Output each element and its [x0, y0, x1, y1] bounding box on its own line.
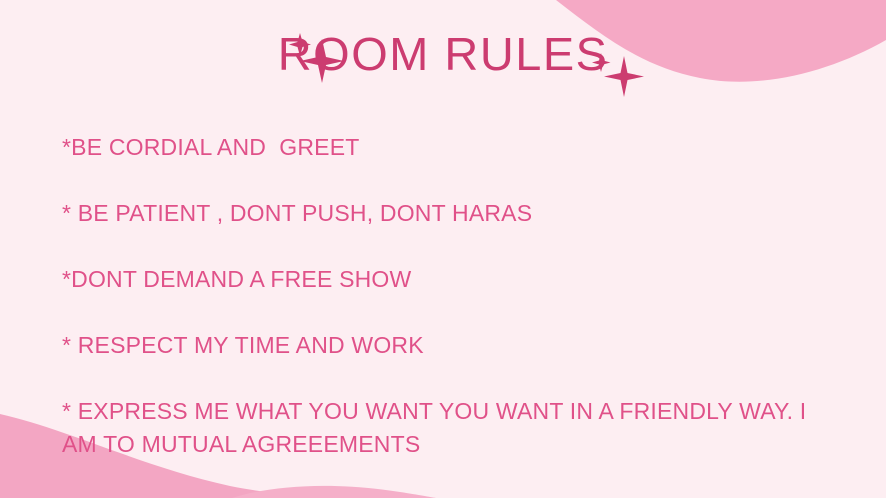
sparkle-icon	[592, 50, 644, 102]
wave-arc-bottom-center	[232, 486, 436, 498]
page-title: ROOM RULES	[0, 14, 886, 94]
list-item: * RESPECT MY TIME AND WORK	[62, 329, 852, 362]
room-rules-slide: ROOM RULES *BE CORDIAL AND GREET * BE PA…	[0, 0, 886, 498]
list-item: *DONT DEMAND A FREE SHOW	[62, 263, 852, 296]
list-item: * EXPRESS ME WHAT YOU WANT YOU WANT IN A…	[62, 395, 837, 461]
page-title-text: ROOM RULES	[278, 31, 609, 77]
list-item: *BE CORDIAL AND GREET	[62, 131, 852, 164]
list-item: * BE PATIENT , DONT PUSH, DONT HARAS	[62, 197, 852, 230]
rules-list: *BE CORDIAL AND GREET * BE PATIENT , DON…	[62, 131, 852, 461]
